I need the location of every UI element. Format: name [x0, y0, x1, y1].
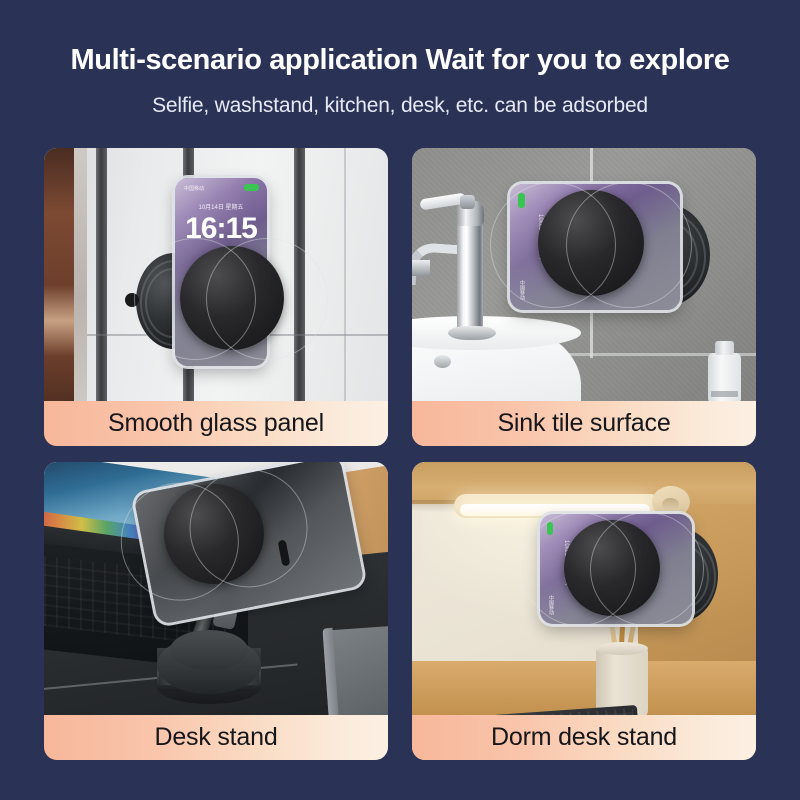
product-feature-image: Multi-scenario application Wait for you … [0, 0, 800, 800]
faucet-handle-joint [460, 195, 475, 209]
caption-label: Dorm desk stand [491, 723, 677, 752]
battery-icon [244, 184, 259, 191]
soap-bottle [708, 353, 741, 405]
scenario-panel-desk-stand: Desk stand [44, 462, 388, 760]
faucet-base [448, 326, 496, 340]
scenario-panel-sink-tile-surface: 中国移动 10月14日 星期五 16:15 Sink tile surface [412, 148, 756, 446]
disc-arc-highlight [206, 238, 328, 360]
header: Multi-scenario application Wait for you … [0, 0, 800, 140]
pencil-cup-rim [596, 642, 648, 655]
caption-bar: Sink tile surface [412, 401, 756, 446]
magnetic-mount-disc[interactable] [564, 520, 660, 616]
caption-label: Smooth glass panel [108, 409, 324, 438]
scenario-panel-dorm-desk-stand: 中国移动 10月14日 星期五 16:15 Dorm desk stand [412, 462, 756, 760]
faucet-spout-tip [412, 260, 430, 276]
scenario-panel-smooth-glass-panel: 中国移动 10月14日 星期五 16:15 Smooth glass panel [44, 148, 388, 446]
soap-bottle-label [711, 391, 738, 397]
magnetic-mount-disc[interactable] [538, 190, 644, 296]
faucet-body [457, 220, 483, 332]
lockscreen-date: 10月14日 星期五 [175, 202, 267, 211]
dorm-desk-surface [412, 661, 756, 715]
soap-bottle-cap [715, 341, 734, 355]
status-carrier: 中国移动 [184, 185, 204, 192]
magnetic-mount-disc[interactable] [180, 246, 284, 350]
scenario-grid: 中国移动 10月14日 星期五 16:15 Smooth glass panel [44, 148, 756, 760]
led-mount-hole [662, 498, 679, 511]
basin-drain [434, 355, 451, 368]
disc-arc-highlight [566, 182, 692, 308]
page-subtitle: Selfie, washstand, kitchen, desk, etc. c… [0, 94, 800, 118]
caption-bar: Smooth glass panel [44, 401, 388, 446]
caption-label: Desk stand [154, 723, 277, 752]
page-title: Multi-scenario application Wait for you … [0, 44, 800, 77]
disc-arc-highlight [590, 512, 704, 626]
caption-bar: Dorm desk stand [412, 715, 756, 760]
caption-bar: Desk stand [44, 715, 388, 760]
caption-label: Sink tile surface [497, 409, 670, 438]
magnetic-mount-disc[interactable] [155, 475, 272, 592]
stand-base-top [170, 630, 248, 670]
